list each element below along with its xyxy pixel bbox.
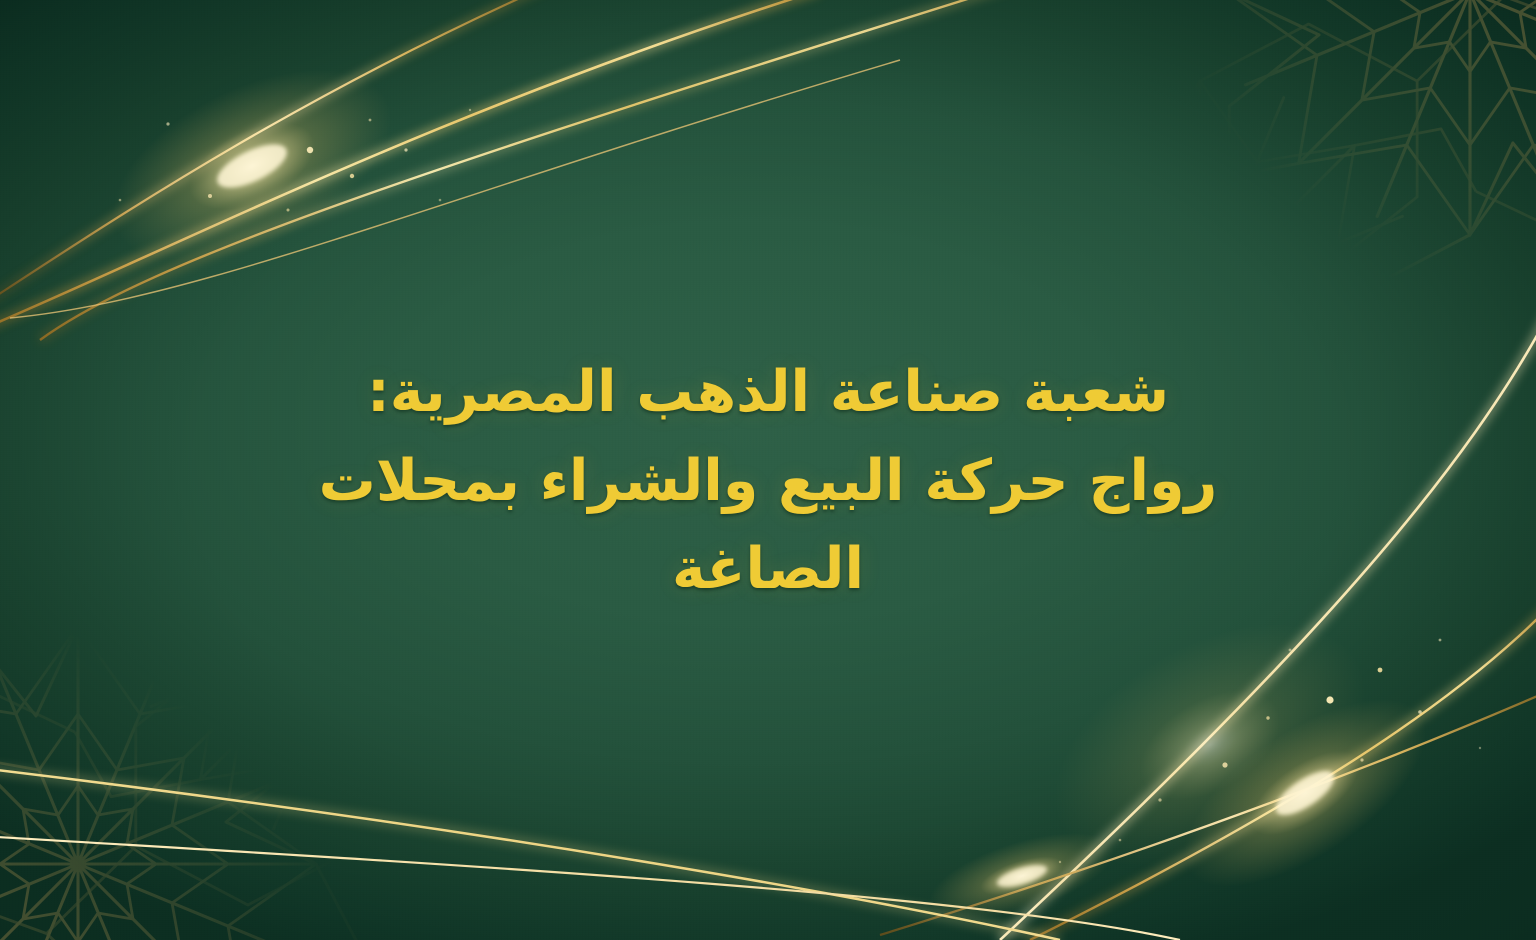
- banner-canvas: شعبة صناعة الذهب المصرية: رواج حركة البي…: [0, 0, 1536, 940]
- background-vignette: [0, 0, 1536, 940]
